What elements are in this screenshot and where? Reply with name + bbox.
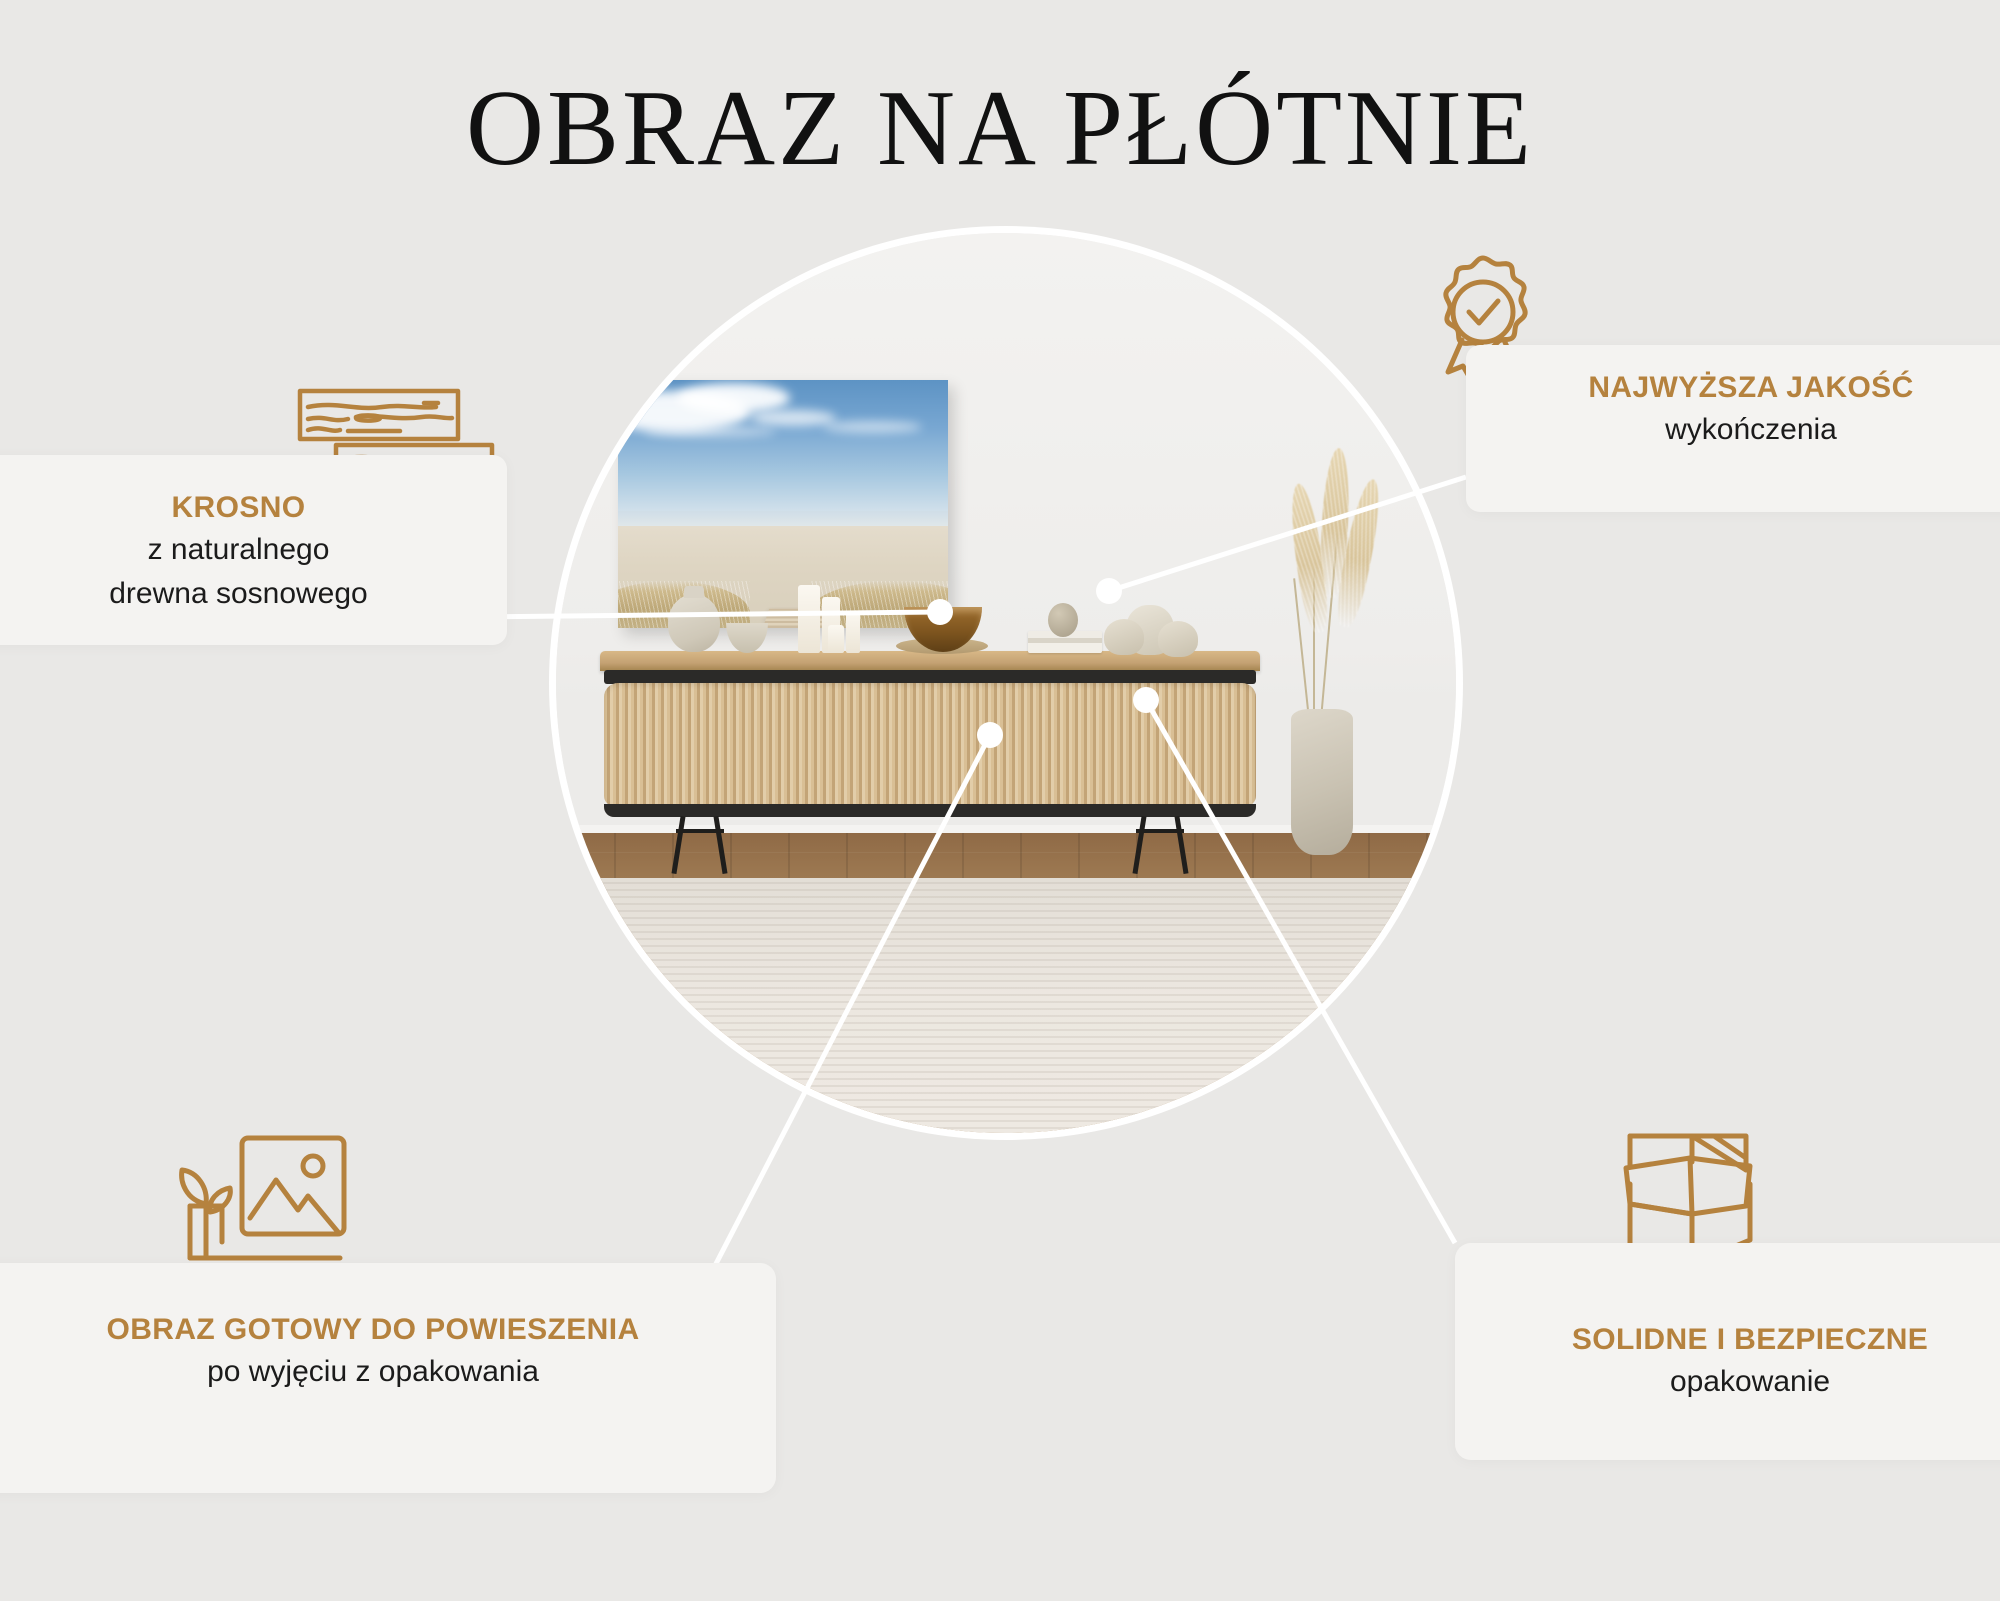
feature-panel-jakosc: NAJWYŻSZA JAKOŚĆ wykończenia bbox=[1466, 345, 2000, 512]
sideboard-furniture bbox=[600, 651, 1260, 836]
sideboard-fluted-doors bbox=[604, 683, 1256, 806]
feature-sub-krosno-line2: drewna sosnowego bbox=[0, 575, 507, 613]
feature-sub-jakosc: wykończenia bbox=[1466, 411, 2000, 449]
feature-sub-opakowanie: opakowanie bbox=[1455, 1363, 2000, 1401]
feature-kicker-krosno: KROSNO bbox=[0, 491, 507, 525]
feature-sub-gotowy: po wyjęciu z opakowania bbox=[0, 1353, 776, 1391]
room-interior bbox=[556, 233, 1456, 1133]
framed-picture-plant-icon bbox=[150, 1130, 370, 1285]
decor-small-bowl bbox=[726, 623, 768, 653]
product-scene-circle bbox=[556, 233, 1456, 1133]
feature-kicker-jakosc: NAJWYŻSZA JAKOŚĆ bbox=[1466, 371, 2000, 405]
sideboard-top bbox=[600, 651, 1260, 671]
feature-kicker-opakowanie: SOLIDNE I BEZPIECZNE bbox=[1455, 1323, 2000, 1357]
decor-round-vase bbox=[668, 594, 720, 652]
decor-jug-small bbox=[1104, 619, 1144, 655]
tall-floor-vase bbox=[1291, 709, 1353, 855]
artwork-sky bbox=[618, 380, 948, 516]
sideboard-rail bbox=[604, 670, 1256, 684]
feature-sub-krosno-line1: z naturalnego bbox=[0, 531, 507, 569]
feature-panel-krosno: KROSNO z naturalnego drewna sosnowego bbox=[0, 455, 507, 645]
feature-panel-gotowy: OBRAZ GOTOWY DO POWIESZENIA po wyjęciu z… bbox=[0, 1263, 776, 1493]
page-title: OBRAZ NA PŁÓTNIE bbox=[0, 72, 2000, 185]
sideboard-base bbox=[604, 804, 1256, 817]
decor-textured-ball bbox=[1048, 603, 1078, 637]
decor-candle bbox=[798, 585, 820, 653]
feature-kicker-gotowy: OBRAZ GOTOWY DO POWIESZENIA bbox=[0, 1313, 776, 1347]
area-rug bbox=[556, 878, 1456, 1133]
artwork-sand bbox=[618, 526, 948, 628]
feature-panel-opakowanie: SOLIDNE I BEZPIECZNE opakowanie bbox=[1455, 1243, 2000, 1460]
canvas-artwork bbox=[618, 380, 948, 628]
sideboard-leg-bar bbox=[676, 829, 724, 833]
decor-candle bbox=[828, 625, 844, 653]
decor-jug-small bbox=[1158, 621, 1198, 657]
decor-candle bbox=[846, 611, 860, 653]
sideboard-leg-bar bbox=[1136, 829, 1184, 833]
infographic-canvas: OBRAZ NA PŁÓTNIE bbox=[0, 0, 2000, 1601]
